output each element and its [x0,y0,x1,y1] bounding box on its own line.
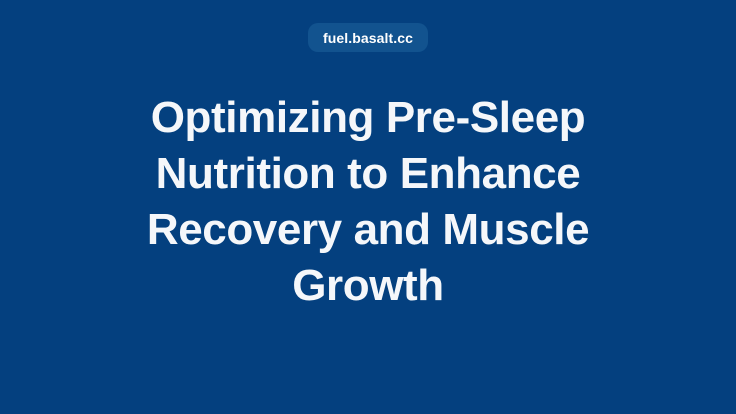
page-title: Optimizing Pre-Sleep Nutrition to Enhanc… [147,90,589,314]
page-title-line-3: Recovery and Muscle [147,202,589,258]
article-share-card: fuel.basalt.cc Optimizing Pre-Sleep Nutr… [0,0,736,414]
source-badge[interactable]: fuel.basalt.cc [308,23,428,52]
page-title-line-4: Growth [147,258,589,314]
page-title-line-2: Nutrition to Enhance [147,146,589,202]
headline-wrap: Optimizing Pre-Sleep Nutrition to Enhanc… [118,90,618,314]
page-title-line-1: Optimizing Pre-Sleep [147,90,589,146]
source-badge-label: fuel.basalt.cc [323,31,413,45]
badge-row: fuel.basalt.cc [0,23,736,52]
